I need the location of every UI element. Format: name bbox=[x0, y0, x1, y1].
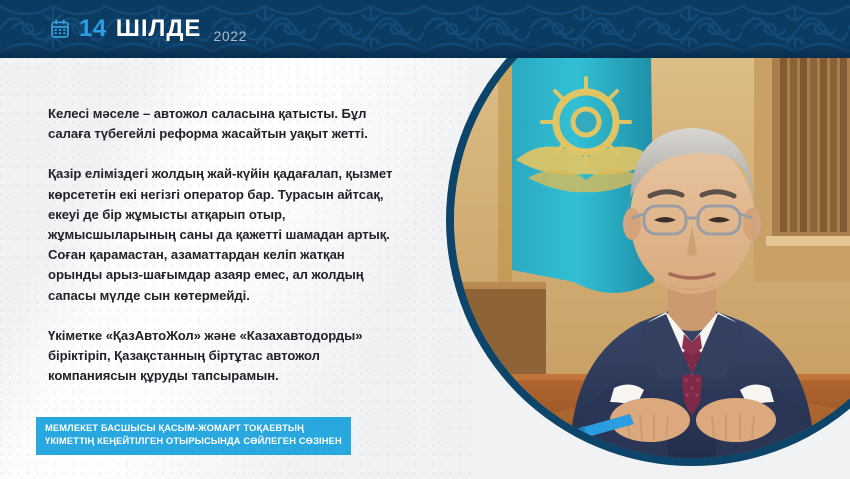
date-month: ШІЛДЕ bbox=[116, 17, 202, 41]
president-photo bbox=[446, 0, 850, 466]
caption-line-2: ҮКІМЕТТІҢ КЕҢЕЙТІЛГЕН ОТЫРЫСЫНДА СӨЙЛЕГЕ… bbox=[45, 435, 342, 448]
date-header-bar: 14 ШІЛДЕ 2022 bbox=[0, 0, 850, 58]
caption-line-1: МЕМЛЕКЕТ БАСШЫСЫ ҚАСЫМ-ЖОМАРТ ТОҚАЕВТЫҢ bbox=[45, 422, 342, 435]
speech-paragraph: Үкіметке «ҚазАвтоЖол» және «Казахавтодор… bbox=[48, 326, 400, 387]
calendar-icon bbox=[50, 19, 70, 39]
date-year: 2022 bbox=[213, 28, 247, 58]
speech-text-block: Келесі мәселе – автожол саласына қатысты… bbox=[48, 104, 400, 386]
date-display: 14 ШІЛДЕ 2022 bbox=[50, 0, 247, 58]
slide-canvas: 14 ШІЛДЕ 2022 Келесі мәселе – автожол са… bbox=[0, 0, 850, 479]
date-day: 14 bbox=[79, 17, 107, 41]
speech-paragraph: Қазір еліміздегі жолдың жай-күйін қадаға… bbox=[48, 164, 400, 305]
source-caption-banner: МЕМЛЕКЕТ БАСШЫСЫ ҚАСЫМ-ЖОМАРТ ТОҚАЕВТЫҢ … bbox=[36, 417, 351, 455]
speech-paragraph: Келесі мәселе – автожол саласына қатысты… bbox=[48, 104, 400, 144]
